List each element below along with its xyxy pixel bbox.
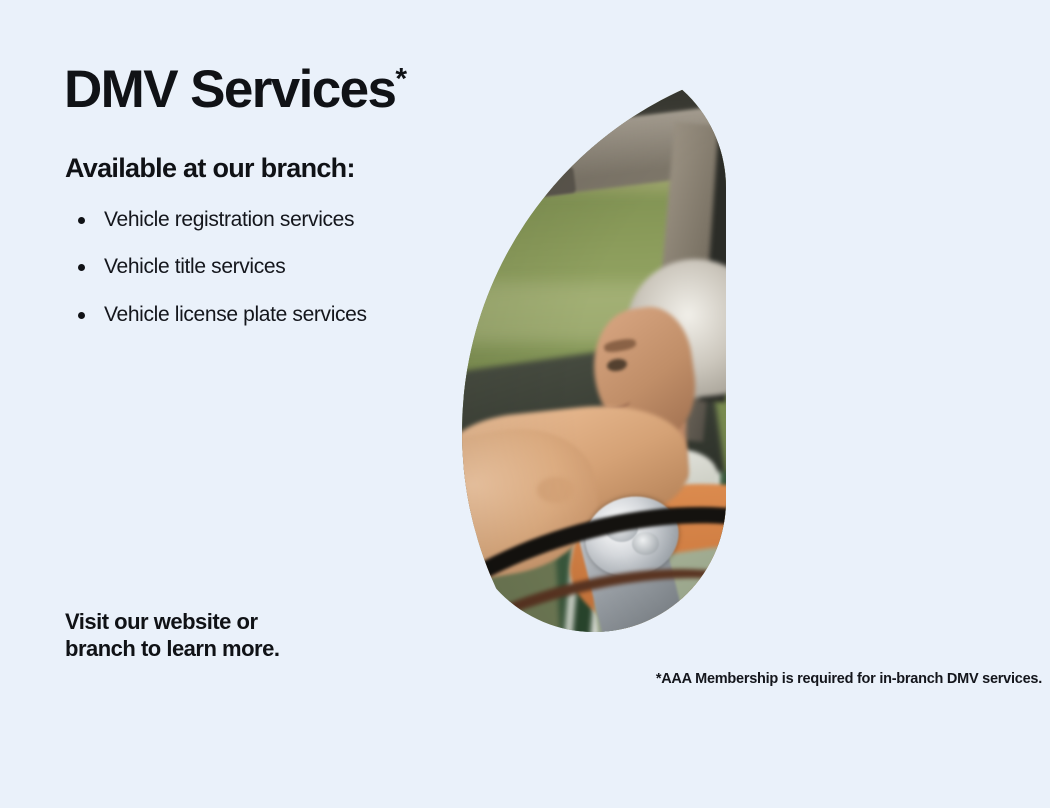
- man-hoodie: [858, 393, 1050, 638]
- man-eyebrow: [924, 214, 1010, 229]
- text-column: DMV Services* Available at our branch: V…: [64, 0, 484, 700]
- man-mouth: [916, 311, 980, 336]
- man-forehead-wrinkle: [928, 189, 1038, 200]
- page-title-text: DMV Services: [64, 60, 395, 119]
- list-item: Vehicle title services: [78, 254, 478, 280]
- bullet-icon: [78, 264, 85, 271]
- man-trousers: [592, 707, 904, 808]
- call-to-action: Visit our website or branch to learn mor…: [65, 608, 279, 663]
- man-jacket-sleeve: [680, 596, 1026, 795]
- list-item: Vehicle license plate services: [78, 302, 478, 328]
- man-nose: [913, 253, 952, 308]
- man-eye-highlight: [948, 240, 960, 249]
- driver-man: [830, 101, 1050, 793]
- footnote-disclaimer: *AAA Membership is required for in-branc…: [656, 671, 1042, 687]
- door-wood-trim: [545, 599, 1050, 808]
- cabin-interior: [913, 56, 1050, 507]
- man-jacket-body: [932, 528, 1050, 808]
- door-frame-shadow: [572, 610, 1050, 808]
- dashboard: [462, 597, 914, 808]
- bullet-icon: [78, 312, 85, 319]
- hero-photo-image: [462, 56, 1050, 808]
- man-mustache: [908, 295, 1003, 328]
- man-hood-fold: [881, 421, 1022, 557]
- man-hair: [913, 98, 1050, 215]
- service-label: Vehicle registration services: [104, 207, 354, 233]
- bullet-icon: [78, 217, 85, 224]
- headrest: [838, 214, 955, 410]
- asterisk-marker: *: [395, 62, 407, 95]
- field-band: [462, 282, 1050, 342]
- service-label: Vehicle title services: [104, 254, 285, 280]
- man-inner-shirt: [952, 437, 991, 465]
- man-hood-drawstring: [908, 475, 933, 613]
- man-cheek: [917, 260, 991, 308]
- man-neck: [948, 385, 1050, 468]
- sunroof: [802, 56, 1050, 196]
- page-title: DMV Services*: [64, 62, 407, 118]
- man-hair-side: [1026, 135, 1050, 247]
- man-face: [893, 115, 1050, 358]
- man-knuckle: [537, 477, 575, 503]
- man-forehead-wrinkle: [924, 172, 1049, 184]
- dashboard-light: [567, 706, 605, 744]
- cta-line-2: branch to learn more.: [65, 635, 279, 662]
- subtitle: Available at our branch:: [65, 153, 355, 184]
- cta-line-1: Visit our website or: [65, 608, 279, 635]
- man-beard: [891, 312, 1037, 416]
- services-list: Vehicle registration services Vehicle ti…: [78, 207, 478, 349]
- seatbelt: [1004, 377, 1050, 765]
- list-item: Vehicle registration services: [78, 207, 478, 233]
- door-frame: [616, 584, 1050, 808]
- service-label: Vehicle license plate services: [104, 302, 367, 328]
- man-eye: [936, 237, 981, 254]
- hero-photo: [462, 56, 1050, 808]
